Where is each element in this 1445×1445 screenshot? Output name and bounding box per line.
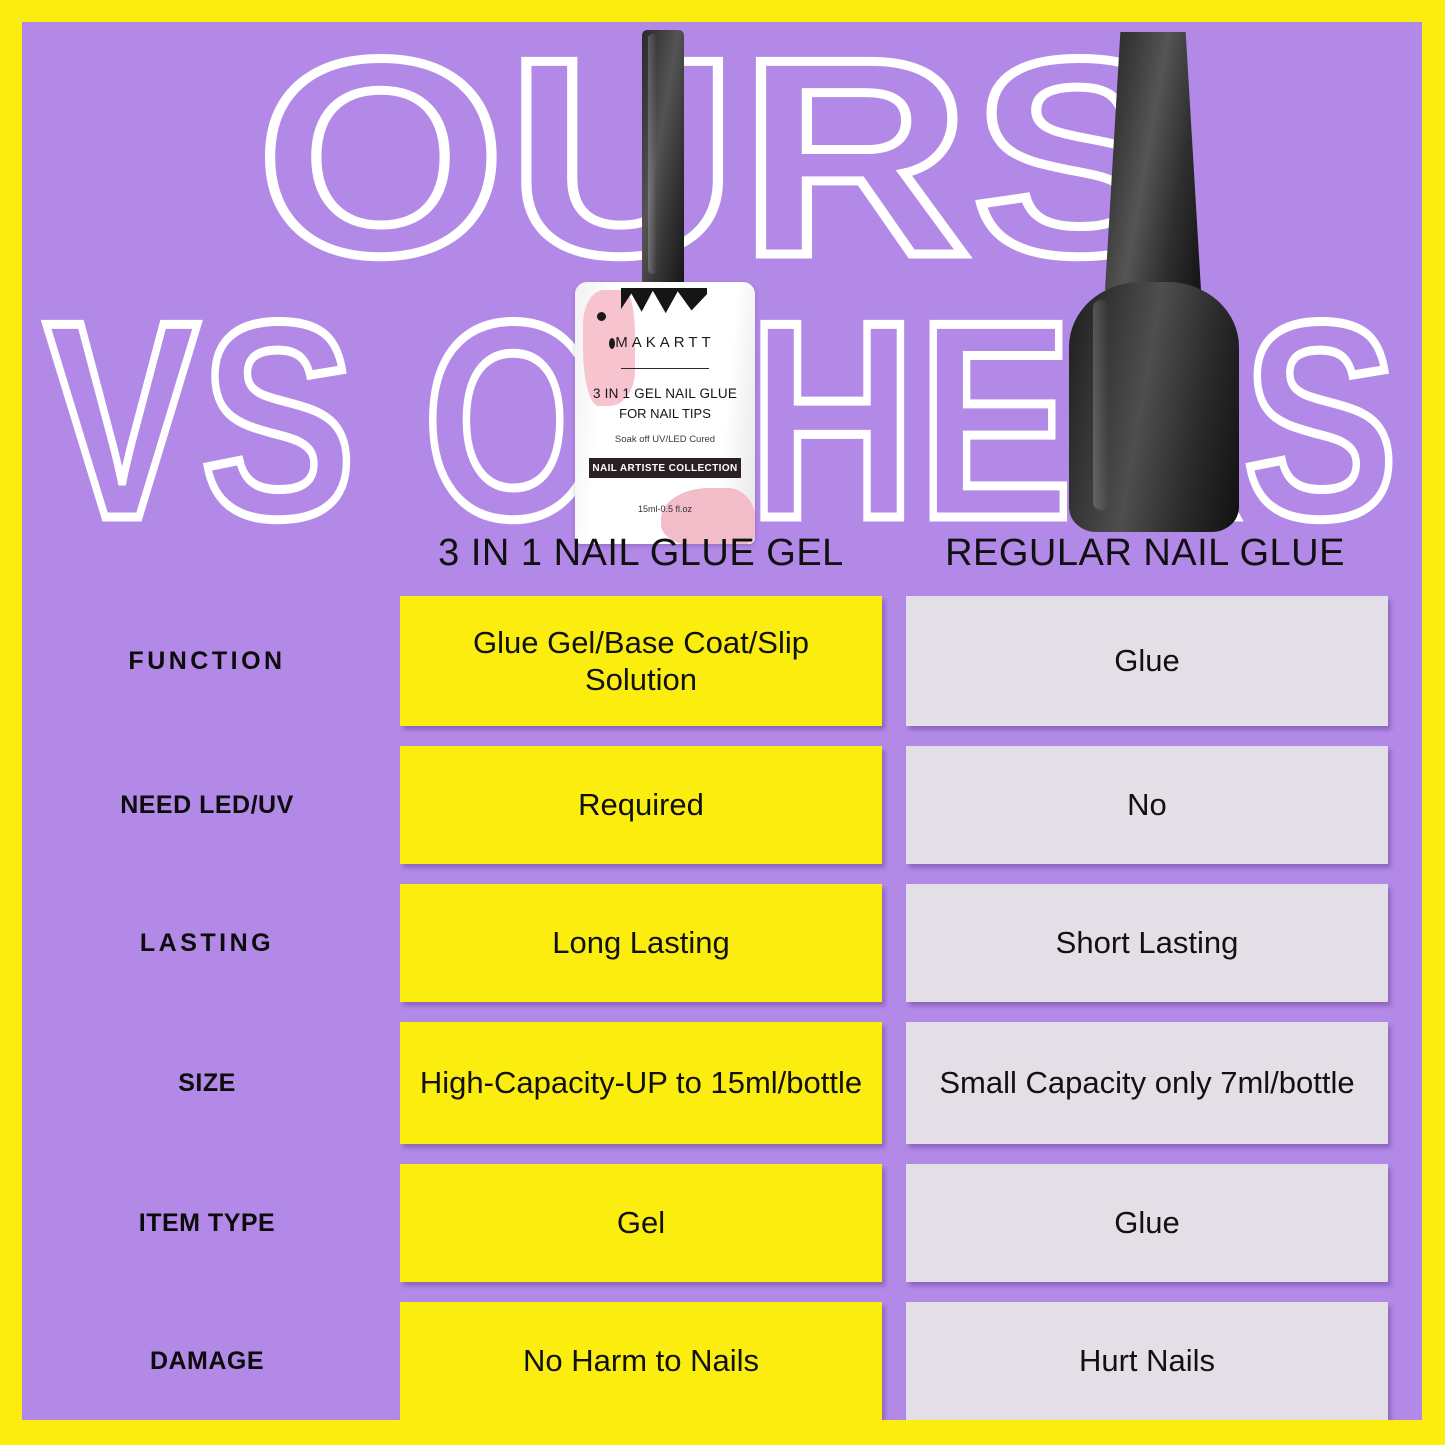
ours-bottle-cap: [642, 30, 684, 288]
cell-ours-size: High-Capacity-UP to 15ml/bottle: [400, 1022, 882, 1144]
label-divider: [621, 368, 709, 369]
column-gap: [882, 884, 906, 1002]
row-label-lasting: LASTING: [22, 884, 400, 1002]
cell-others-damage: Hurt Nails: [906, 1302, 1388, 1420]
column-gap: [882, 1302, 906, 1420]
product-image-others: [1047, 32, 1262, 552]
row-label-item-type: ITEM TYPE: [22, 1164, 400, 1282]
row-label-size: SIZE: [22, 1022, 400, 1144]
column-gap: [882, 1164, 906, 1282]
table-row: NEED LED/UV Required No: [22, 746, 1422, 864]
label-title-line1: 3 IN 1 GEL NAIL GLUE: [575, 386, 755, 401]
column-header-ours: 3 IN 1 NAIL GLUE GEL: [400, 532, 882, 575]
label-brand: MAKARTT: [575, 334, 755, 351]
label-collection-text: NAIL ARTISTE COLLECTION: [592, 463, 737, 474]
label-dot-icon: [597, 312, 606, 321]
infographic-stage: OURS VS OTHERS MAKARTT 3 IN 1 GEL NAIL G…: [22, 22, 1422, 1420]
label-subtitle: Soak off UV/LED Cured: [575, 434, 755, 445]
cell-ours-need-led-uv: Required: [400, 746, 882, 864]
others-bottle-cap: [1105, 32, 1201, 290]
column-gap: [882, 596, 906, 726]
label-title-line2: FOR NAIL TIPS: [575, 406, 755, 421]
cell-others-lasting: Short Lasting: [906, 884, 1388, 1002]
comparison-infographic: OURS VS OTHERS MAKARTT 3 IN 1 GEL NAIL G…: [0, 0, 1445, 1445]
table-row: SIZE High-Capacity-UP to 15ml/bottle Sma…: [22, 1022, 1422, 1144]
label-collection-band: NAIL ARTISTE COLLECTION: [589, 458, 741, 478]
ours-bottle-body: MAKARTT 3 IN 1 GEL NAIL GLUE FOR NAIL TI…: [575, 282, 755, 544]
row-label-need-led-uv: NEED LED/UV: [22, 746, 400, 864]
column-gap: [882, 1022, 906, 1144]
cell-ours-damage: No Harm to Nails: [400, 1302, 882, 1420]
cell-others-item-type: Glue: [906, 1164, 1388, 1282]
table-row: DAMAGE No Harm to Nails Hurt Nails: [22, 1302, 1422, 1420]
cell-ours-item-type: Gel: [400, 1164, 882, 1282]
table-row: FUNCTION Glue Gel/Base Coat/Slip Solutio…: [22, 596, 1422, 726]
cell-others-size: Small Capacity only 7ml/bottle: [906, 1022, 1388, 1144]
product-image-ours: MAKARTT 3 IN 1 GEL NAIL GLUE FOR NAIL TI…: [567, 30, 762, 550]
cell-ours-lasting: Long Lasting: [400, 884, 882, 1002]
cell-ours-function: Glue Gel/Base Coat/Slip Solution: [400, 596, 882, 726]
label-volume: 15ml-0.5 fl.oz: [575, 504, 755, 514]
comparison-table: FUNCTION Glue Gel/Base Coat/Slip Solutio…: [22, 596, 1422, 1420]
cell-others-function: Glue: [906, 596, 1388, 726]
column-gap: [882, 746, 906, 864]
cell-others-need-led-uv: No: [906, 746, 1388, 864]
table-row: ITEM TYPE Gel Glue: [22, 1164, 1422, 1282]
row-label-damage: DAMAGE: [22, 1302, 400, 1420]
others-bottle-highlight: [1093, 300, 1109, 510]
table-row: LASTING Long Lasting Short Lasting: [22, 884, 1422, 1002]
row-label-function: FUNCTION: [22, 596, 400, 726]
column-header-others: REGULAR NAIL GLUE: [904, 532, 1386, 575]
